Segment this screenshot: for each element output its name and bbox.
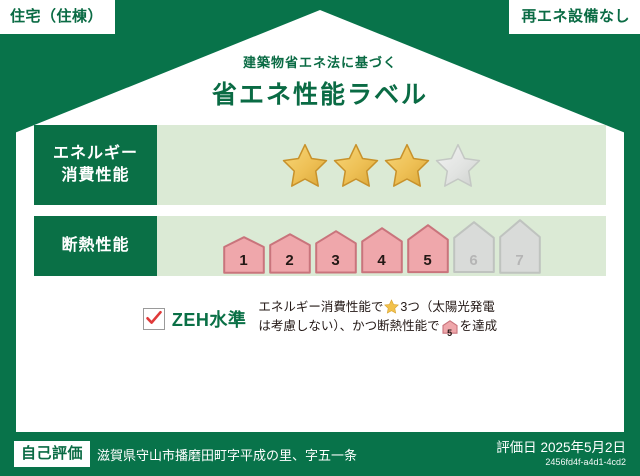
metric-rows: エネルギー 消費性能 断熱性能 1234567	[34, 125, 606, 287]
insulation-grade-2: 2	[269, 233, 311, 274]
zeh-desc-part1: エネルギー消費性能で	[258, 300, 383, 314]
row-insulation-body: 1234567	[157, 216, 606, 276]
row-energy-label-line2: 消費性能	[61, 165, 129, 187]
house-icon	[315, 230, 357, 274]
footer-meta: 評価日 2025年5月2日 2456fd4f-a4d1-4cd2	[496, 440, 626, 469]
label-content: 建築物省エネ法に基づく 省エネ性能ラベル エネルギー 消費性能 断熱性能 123…	[16, 10, 624, 432]
evaluation-type-badge: 自己評価	[14, 441, 90, 467]
renewable-energy-tag: 再エネ設備なし	[509, 0, 640, 34]
evaluation-date: 評価日 2025年5月2日	[496, 440, 626, 456]
row-energy-label-line1: エネルギー	[53, 143, 138, 165]
zeh-desc-part3: を達成	[460, 319, 498, 333]
insulation-grade-7: 7	[499, 219, 541, 274]
star-icon-empty	[435, 142, 481, 188]
building-type-tag: 住宅（住棟）	[0, 0, 115, 34]
zeh-standard-indicator: ZEH水準	[143, 306, 247, 332]
house-icon	[269, 233, 311, 274]
insulation-grade-5: 5	[407, 224, 449, 273]
title-block: 建築物省エネ法に基づく 省エネ性能ラベル	[16, 52, 624, 111]
label-subtitle: 建築物省エネ法に基づく	[16, 52, 624, 71]
house-icon	[499, 219, 541, 274]
zeh-section: ZEH水準 エネルギー消費性能で3つ（太陽光発電 は考慮しない）、かつ断熱性能で…	[16, 298, 624, 341]
row-insulation-label: 断熱性能	[34, 216, 157, 276]
star-icon-filled	[282, 142, 328, 188]
page-title: 省エネ性能ラベル	[16, 75, 624, 111]
label-id: 2456fd4f-a4d1-4cd2	[496, 457, 626, 469]
footer-bar: 自己評価 滋賀県守山市播磨田町字平成の里、字五一条 評価日 2025年5月2日 …	[0, 432, 640, 476]
energy-performance-label: 住宅（住棟） 再エネ設備なし 建築物省エネ法に基づく 省エネ性能ラベル エネルギ…	[0, 0, 640, 476]
row-energy-performance: エネルギー 消費性能	[34, 125, 606, 205]
insulation-grade-inline-value: 5	[442, 327, 458, 341]
house-icon	[223, 236, 265, 274]
zeh-description: エネルギー消費性能で3つ（太陽光発電 は考慮しない）、かつ断熱性能で5を達成	[258, 298, 497, 341]
zeh-standard-label: ZEH水準	[172, 306, 247, 332]
star-icon-filled	[333, 142, 379, 188]
zeh-checkbox	[143, 308, 165, 330]
row-insulation-performance: 断熱性能 1234567	[34, 216, 606, 276]
house-icon	[453, 221, 495, 273]
house-icon	[361, 227, 403, 274]
row-energy-label: エネルギー 消費性能	[34, 125, 157, 205]
insulation-grade-icon-inline: 5	[442, 320, 458, 340]
star-icon-filled	[384, 142, 430, 188]
insulation-grade-1: 1	[223, 236, 265, 274]
zeh-desc-stars: 3つ（太陽光発電	[400, 300, 494, 314]
insulation-grade-4: 4	[361, 227, 403, 274]
insulation-grade-3: 3	[315, 230, 357, 274]
row-energy-body	[157, 125, 606, 205]
star-rating	[282, 142, 481, 188]
insulation-grade-6: 6	[453, 221, 495, 273]
property-address: 滋賀県守山市播磨田町字平成の里、字五一条	[97, 445, 357, 464]
house-icon	[407, 224, 449, 273]
zeh-desc-part2: は考慮しない）、かつ断熱性能で	[258, 319, 439, 333]
check-icon	[145, 309, 163, 327]
star-icon-inline	[384, 299, 399, 314]
insulation-grade-scale: 1234567	[223, 219, 541, 274]
